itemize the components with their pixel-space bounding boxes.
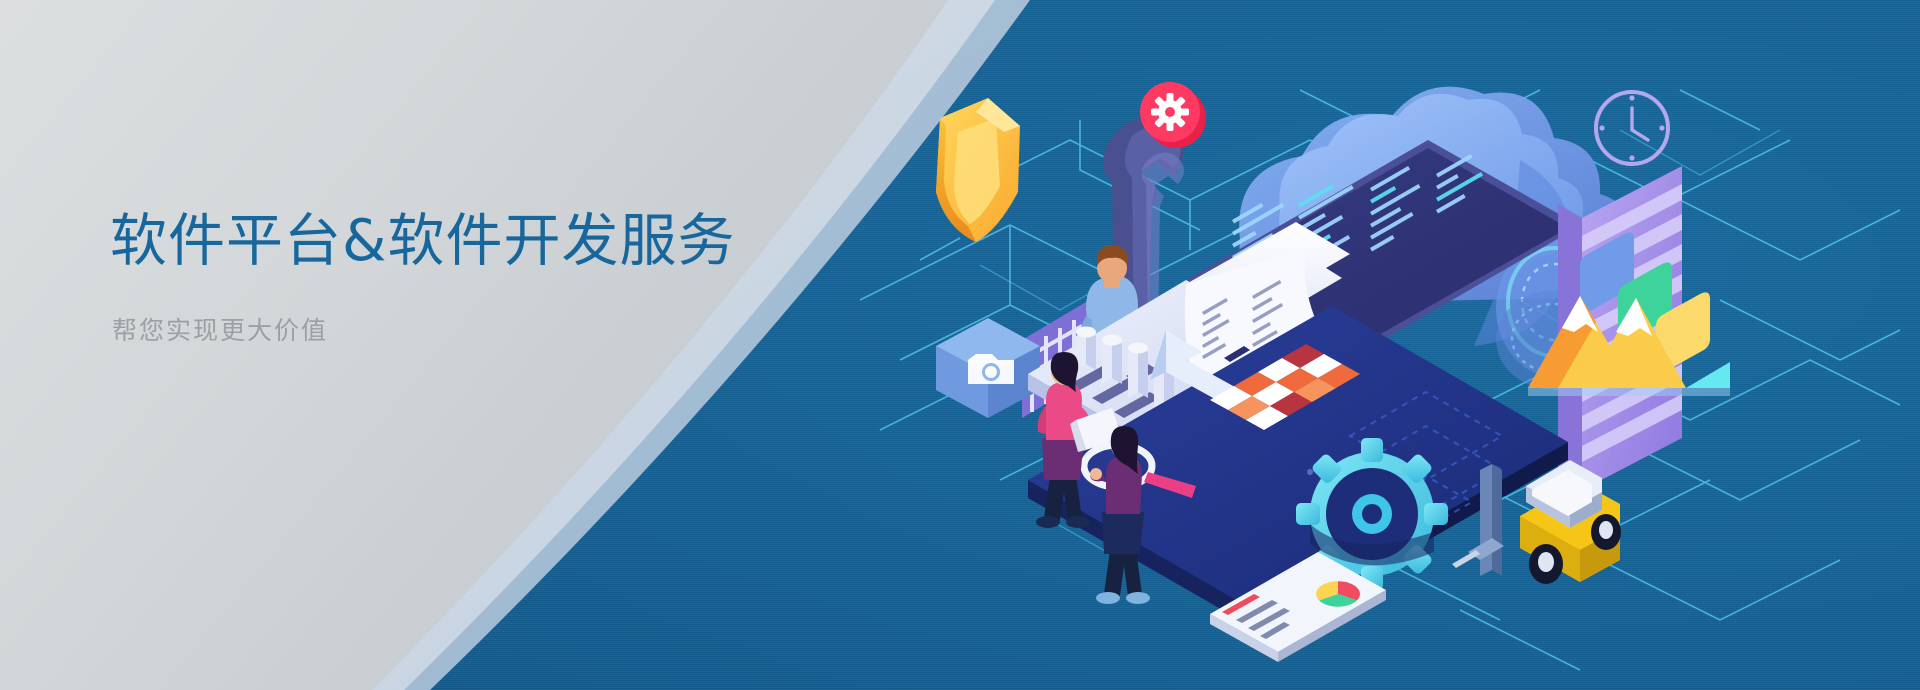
page-subtitle: 帮您实现更大价值 [112, 313, 870, 348]
hero-banner: 软件平台&软件开发服务 帮您实现更大价值 [0, 0, 1920, 690]
hero-copy: 软件平台&软件开发服务 帮您实现更大价值 [110, 208, 870, 348]
page-title: 软件平台&软件开发服务 [110, 208, 870, 275]
